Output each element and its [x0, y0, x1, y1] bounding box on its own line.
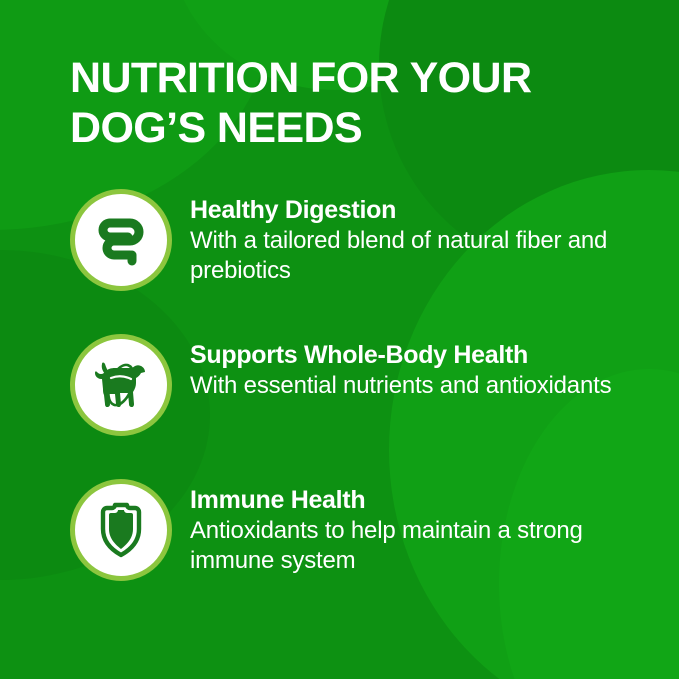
feature-title: Immune Health — [190, 486, 649, 514]
feature-title: Supports Whole-Body Health — [190, 341, 611, 369]
feature-description: Antioxidants to help maintain a strong i… — [190, 516, 649, 577]
icon-badge-digestion — [70, 189, 172, 291]
feature-text-immune: Immune Health Antioxidants to help maint… — [190, 477, 649, 577]
feature-item-whole-body-health: Supports Whole-Body Health With essentia… — [70, 332, 649, 436]
infographic-panel: NUTRITION FOR YOUR DOG’S NEEDS Healthy D… — [0, 0, 679, 679]
feature-title: Healthy Digestion — [190, 196, 649, 224]
feature-item-immune-health: Immune Health Antioxidants to help maint… — [70, 477, 649, 581]
feature-text-digestion: Healthy Digestion With a tailored blend … — [190, 187, 649, 287]
intestine-icon — [90, 209, 152, 271]
icon-badge-whole-body — [70, 334, 172, 436]
shield-icon — [90, 498, 152, 562]
feature-item-healthy-digestion: Healthy Digestion With a tailored blend … — [70, 187, 649, 291]
feature-description: With essential nutrients and antioxidant… — [190, 371, 611, 402]
feature-list: Healthy Digestion With a tailored blend … — [70, 187, 649, 581]
icon-badge-immune — [70, 479, 172, 581]
feature-text-whole-body: Supports Whole-Body Health With essentia… — [190, 332, 611, 402]
dog-orbit-icon — [88, 354, 154, 416]
page-title: NUTRITION FOR YOUR DOG’S NEEDS — [70, 54, 600, 154]
feature-description: With a tailored blend of natural fiber a… — [190, 226, 649, 287]
